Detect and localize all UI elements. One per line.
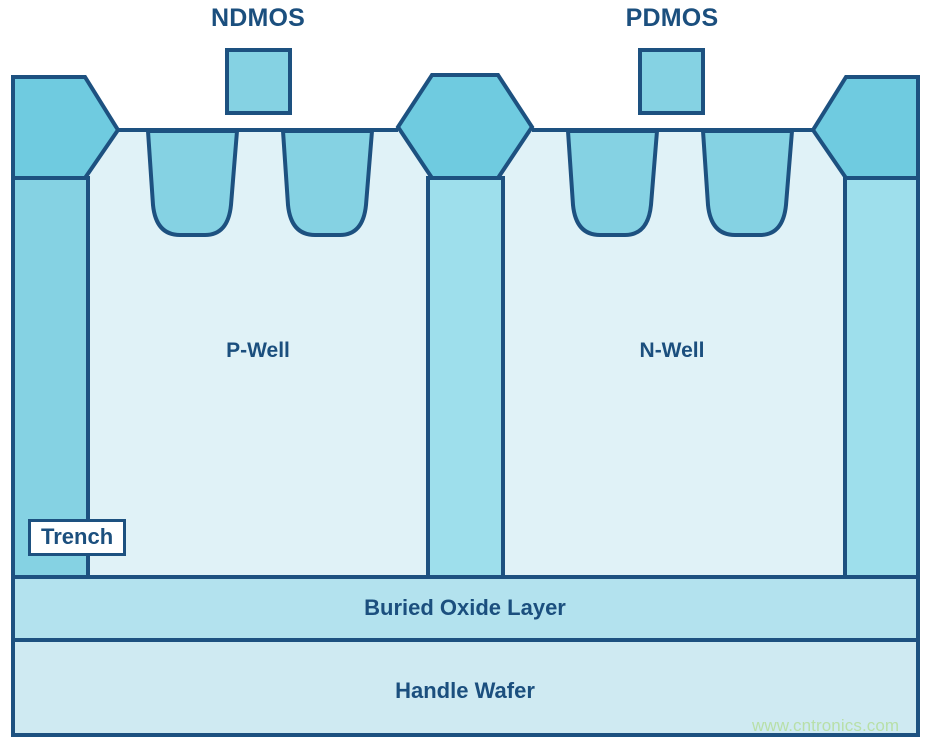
ndmos-source-implant bbox=[148, 131, 237, 235]
site-watermark: www.cntronics.com bbox=[752, 716, 899, 736]
layer-label-handle-wafer: Handle Wafer bbox=[395, 680, 535, 702]
trench-left-column bbox=[13, 178, 88, 577]
layer-label-buried-oxide: Buried Oxide Layer bbox=[364, 597, 566, 619]
diagram-canvas: NDMOS PDMOS P-Well N-Well Buried Oxide L… bbox=[0, 0, 930, 750]
device-label-pdmos: PDMOS bbox=[626, 6, 719, 31]
pdmos-gate-electrode bbox=[640, 50, 703, 113]
callout-trench: Trench bbox=[28, 519, 126, 556]
soi-cross-section-illustration bbox=[0, 0, 930, 750]
device-label-ndmos: NDMOS bbox=[211, 6, 305, 31]
ndmos-gate-electrode bbox=[227, 50, 290, 113]
trench-center-column bbox=[428, 178, 503, 577]
well-label-p-well: P-Well bbox=[226, 340, 290, 361]
pdmos-source-implant bbox=[568, 131, 657, 235]
pdmos-drain-implant bbox=[703, 131, 792, 235]
ndmos-drain-implant bbox=[283, 131, 372, 235]
trench-right-column bbox=[845, 178, 918, 577]
well-label-n-well: N-Well bbox=[640, 340, 705, 361]
